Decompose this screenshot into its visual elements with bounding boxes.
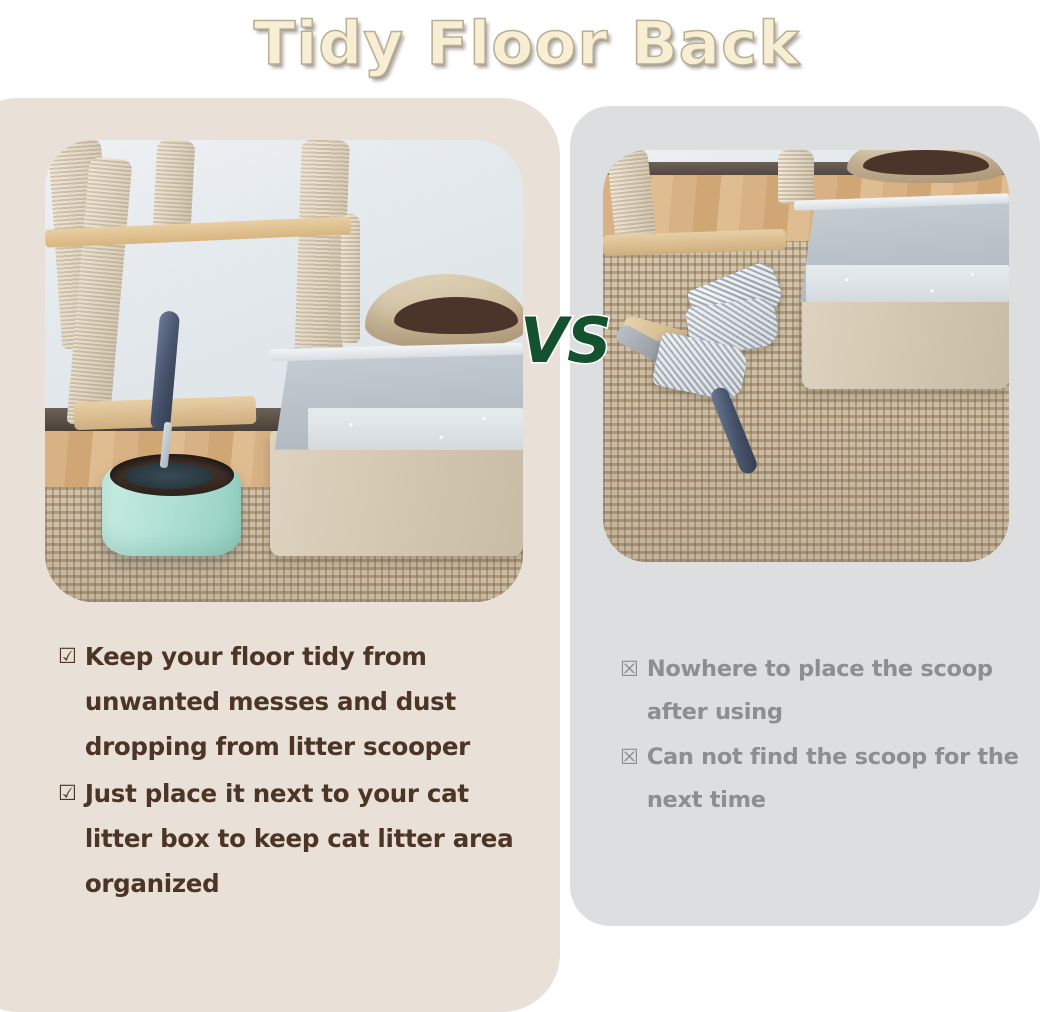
page-title: Tidy Floor Back: [253, 14, 799, 74]
litter-box-body: [270, 431, 523, 556]
list-item: ☑ Just place it next to your cat litter …: [58, 771, 528, 906]
list-item-label: Nowhere to place the scoop after using: [647, 648, 1020, 734]
list-item-label: Just place it next to your cat litter bo…: [85, 771, 528, 906]
title-bar: Tidy Floor Back: [0, 0, 1053, 88]
cat-scratcher-hole: [863, 150, 989, 175]
scene-without-product: [603, 150, 1009, 562]
drawbacks-list: ☒ Nowhere to place the scoop after using…: [620, 648, 1020, 824]
checkbox-crossed-icon: ☒: [620, 648, 639, 691]
benefits-list: ☑ Keep your floor tidy from unwanted mes…: [58, 634, 528, 908]
cat-litter: [806, 265, 1009, 302]
cat-tree-post: [778, 150, 815, 204]
list-item-label: Keep your floor tidy from unwanted messe…: [85, 634, 528, 769]
versus-badge: VS: [520, 310, 611, 372]
list-item: ☑ Keep your floor tidy from unwanted mes…: [58, 634, 528, 769]
list-item: ☒ Can not find the scoop for the next ti…: [620, 736, 1020, 822]
litter-debris: [126, 463, 212, 488]
list-item-label: Can not find the scoop for the next time: [647, 736, 1020, 822]
checkbox-checked-icon: ☑: [58, 771, 77, 816]
checkbox-checked-icon: ☑: [58, 634, 77, 679]
photo-with-product: [45, 140, 523, 602]
photo-without-product: [603, 150, 1009, 562]
cat-tree-post: [153, 140, 196, 233]
list-item: ☒ Nowhere to place the scoop after using: [620, 648, 1020, 734]
cat-litter: [308, 408, 523, 450]
checkbox-crossed-icon: ☒: [620, 736, 639, 779]
scene-with-product: [45, 140, 523, 602]
